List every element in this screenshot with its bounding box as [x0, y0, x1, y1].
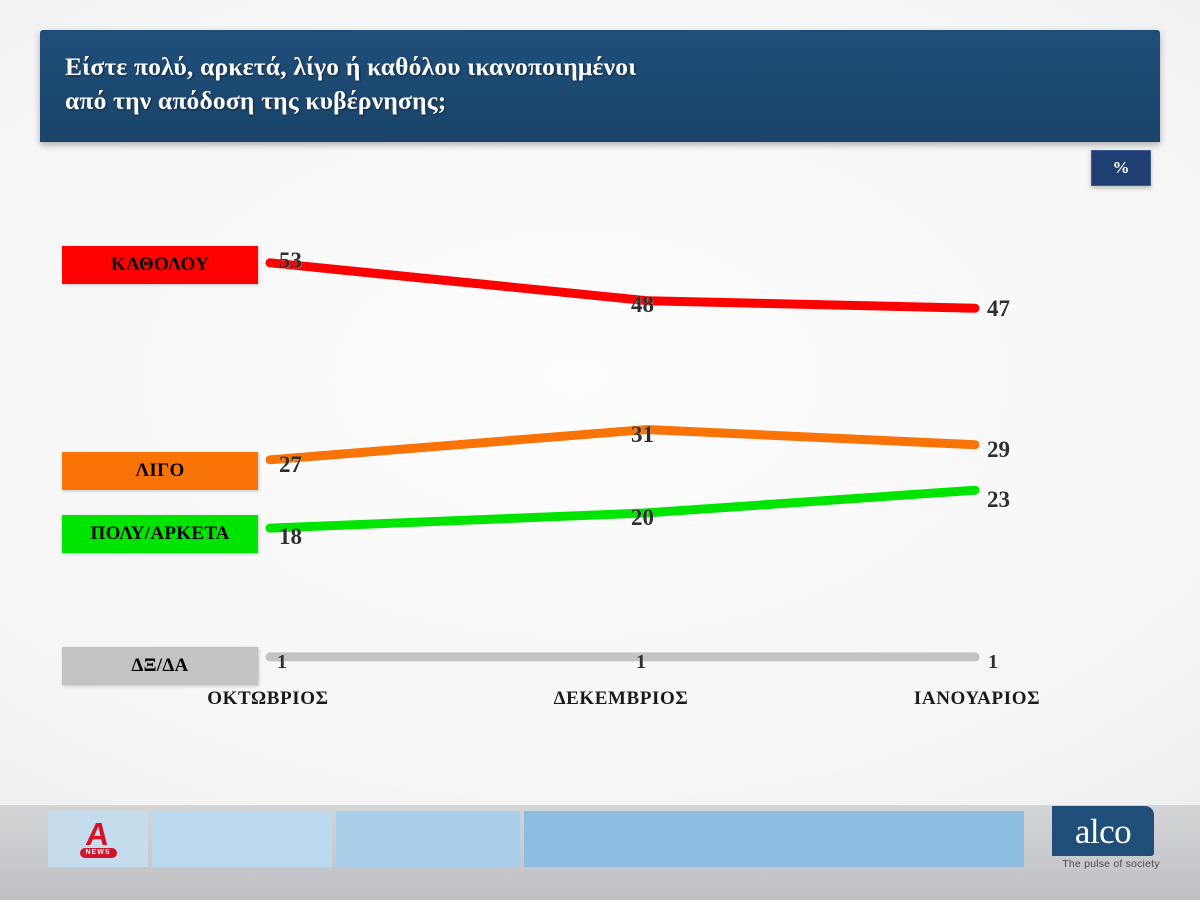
legend-chip-dx-da[interactable]: ΔΞ/ΔΑ — [62, 647, 258, 685]
alpha-news-logo: A NEWS — [48, 811, 148, 867]
data-label-poly-dec: 20 — [631, 505, 654, 531]
data-label-poly-jan: 23 — [987, 487, 1010, 513]
footer-block-2 — [152, 811, 332, 867]
data-label-katholou-dec: 48 — [631, 292, 654, 318]
legend-chip-ligo[interactable]: ΛΙΓΟ — [62, 452, 258, 490]
series-line-2 — [270, 490, 975, 528]
alco-logo: alco — [1052, 806, 1154, 856]
data-label-ligo-oct: 27 — [279, 452, 302, 478]
data-label-dxda-dec: 1 — [636, 651, 646, 674]
footer-block-3 — [336, 811, 520, 867]
series-line-0 — [270, 263, 975, 308]
x-axis-label-ianouarios: ΙΑΝΟΥΑΡΙΟΣ — [914, 688, 1040, 710]
data-label-ligo-jan: 29 — [987, 437, 1010, 463]
data-label-poly-oct: 18 — [279, 524, 302, 550]
data-label-katholou-jan: 47 — [987, 296, 1010, 322]
alco-wordmark: alco — [1075, 814, 1131, 849]
data-label-katholou-oct: 53 — [279, 248, 302, 274]
footer-block-4 — [524, 811, 1024, 867]
x-axis-label-oktovrios: ΟΚΤΩΒΡΙΟΣ — [207, 688, 328, 710]
alpha-a-icon: A — [85, 821, 111, 847]
slide-canvas: Είστε πολύ, αρκετά, λίγο ή καθόλου ικανο… — [0, 0, 1200, 900]
x-axis-label-dekemvrios: ΔΕΚΕΜΒΡΙΟΣ — [554, 688, 689, 710]
percent-unit-badge: % — [1091, 150, 1151, 186]
data-label-ligo-dec: 31 — [631, 422, 654, 448]
legend-chip-katholou[interactable]: ΚΑΘΟΛΟΥ — [62, 246, 258, 284]
title-line-2: από την απόδοση της κυβέρνησης; — [65, 86, 446, 115]
series-line-1 — [270, 430, 975, 460]
data-label-dxda-oct: 1 — [277, 651, 287, 674]
legend-chip-poly-arketa[interactable]: ΠΟΛΥ/ΑΡΚΕΤΑ — [62, 515, 258, 553]
data-label-dxda-jan: 1 — [988, 651, 998, 674]
alco-tagline: The pulse of society — [1052, 858, 1170, 870]
title-banner: Είστε πολύ, αρκετά, λίγο ή καθόλου ικανο… — [40, 30, 1160, 142]
title-line-1: Είστε πολύ, αρκετά, λίγο ή καθόλου ικανο… — [65, 52, 636, 81]
page-title: Είστε πολύ, αρκετά, λίγο ή καθόλου ικανο… — [65, 50, 1140, 118]
